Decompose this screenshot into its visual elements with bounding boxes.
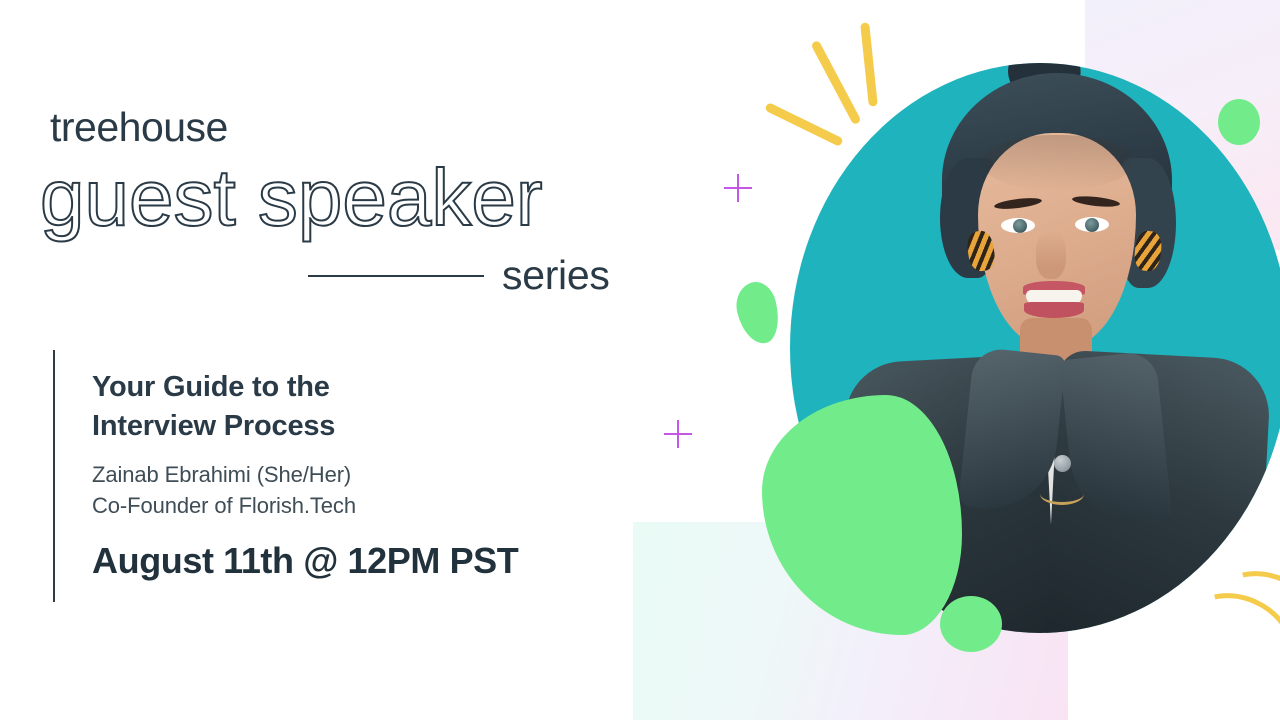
vertical-accent-rule [53, 350, 55, 602]
iris-left [1013, 219, 1027, 233]
speaker-name: Zainab Ebrahimi (She/Her) [92, 459, 612, 490]
content-column: treehouse guest speaker series Your Guid… [0, 0, 660, 720]
green-dot-top-shape [1218, 99, 1260, 145]
plus-mark-lower-icon [664, 420, 692, 448]
eye-right [1075, 217, 1109, 232]
speaker-role: Co-Founder of Florish.Tech [92, 490, 612, 521]
talk-title-line-1: Your Guide to the [92, 368, 612, 407]
treehouse-wordmark: treehouse [50, 104, 228, 151]
promo-slide: treehouse guest speaker series Your Guid… [0, 0, 1280, 720]
event-datetime: August 11th @ 12PM PST [92, 540, 612, 582]
plus-mark-upper-icon [724, 174, 752, 202]
series-row: series [308, 252, 610, 299]
talk-title: Your Guide to the Interview Process [92, 368, 612, 445]
forehead-shading [982, 135, 1132, 191]
lower-lip [1024, 302, 1084, 318]
green-blob-small-shape [731, 278, 785, 348]
green-dot-bottom-shape [940, 596, 1002, 652]
jacket-snap-button [1054, 455, 1071, 472]
necklace [1040, 483, 1084, 505]
eye-left [1001, 218, 1035, 233]
nose [1036, 231, 1066, 279]
iris-right [1085, 218, 1099, 232]
series-label: series [502, 252, 610, 299]
event-details: Your Guide to the Interview Process Zain… [92, 368, 612, 582]
series-headline: guest speaker [40, 158, 543, 238]
series-divider-rule [308, 275, 484, 277]
talk-title-line-2: Interview Process [92, 407, 612, 446]
